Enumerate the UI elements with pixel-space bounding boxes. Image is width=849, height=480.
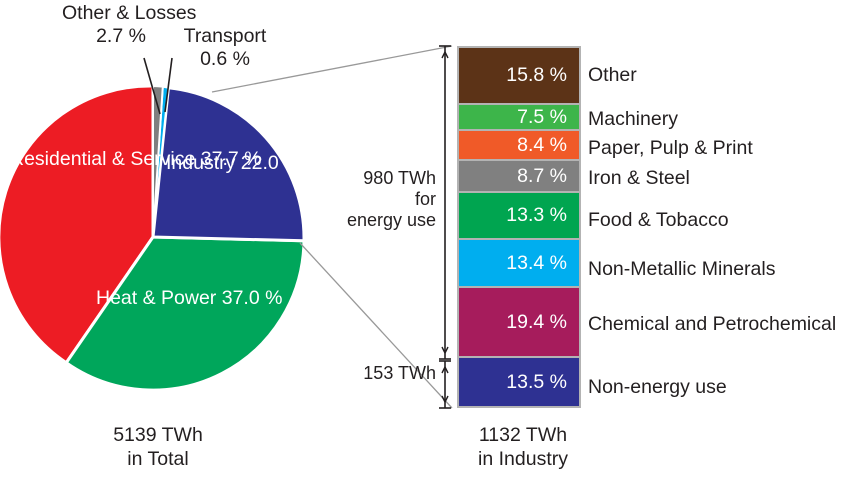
callout-other-losses-line1: Other — [62, 2, 111, 24]
legend-item-non-metallic-minerals: Non-Metallic Minerals — [588, 258, 775, 280]
bar-segment-machinery[interactable]: 7.5 % — [459, 105, 579, 132]
callout-other-losses-line2: & Losses — [116, 2, 196, 24]
caption-total-unit: in Total — [68, 447, 248, 471]
caption-total-value: 5139 TWh — [68, 423, 248, 447]
bar-segment-non-metallic-minerals-pct: 13.4 % — [506, 253, 579, 273]
bar-segment-other[interactable]: 15.8 % — [459, 48, 579, 105]
energy-flow-figure: Other & Losses 2.7 % Transport 0.6 % Res… — [0, 0, 849, 480]
bar-segment-machinery-pct: 7.5 % — [517, 107, 579, 127]
bar-segment-iron-steel-pct: 8.7 % — [517, 166, 579, 186]
bar-segment-other-pct: 15.8 % — [506, 65, 579, 85]
bar-segment-chemical-petrochemical-pct: 19.4 % — [506, 312, 579, 332]
legend-item-chemical-petrochemical: Chemical and Petrochemical — [588, 313, 836, 335]
bar-segment-iron-steel[interactable]: 8.7 % — [459, 161, 579, 192]
caption-industry-value: 1132 TWh — [428, 423, 618, 447]
legend-item-non-energy-use: Non-energy use — [588, 376, 727, 398]
bar-segment-paper-pulp-print-pct: 8.4 % — [517, 135, 579, 155]
caption-industry: 1132 TWh in Industry — [428, 423, 618, 471]
bar-legend: Other Machinery Paper, Pulp & Print Iron… — [588, 46, 849, 408]
bar-segment-paper-pulp-print[interactable]: 8.4 % — [459, 131, 579, 161]
bracket-energy-line3: energy use — [340, 210, 436, 231]
caption-total: 5139 TWh in Total — [68, 423, 248, 471]
legend-item-food-tobacco: Food & Tobacco — [588, 209, 729, 231]
bar-segment-chemical-petrochemical[interactable]: 19.4 % — [459, 288, 579, 357]
bar-segment-non-energy-use-pct: 13.5 % — [506, 372, 579, 392]
bracket-label-non-energy-use: 153 TWh — [336, 363, 436, 384]
callout-other-losses: Other & Losses 2.7 % — [62, 2, 180, 48]
bracket-label-energy-use: 980 TWh for energy use — [340, 168, 436, 231]
legend-item-paper-pulp-print: Paper, Pulp & Print — [588, 137, 753, 159]
legend-item-other: Other — [588, 64, 637, 86]
bracket-energy-line1: 980 TWh — [340, 168, 436, 189]
callout-transport-line1: Transport — [184, 25, 267, 47]
caption-industry-unit: in Industry — [428, 447, 618, 471]
bar-segment-food-tobacco-pct: 13.3 % — [506, 205, 579, 225]
industry-stacked-bar: 15.8 % 7.5 % 8.4 % 8.7 % 13.3 % 13.4 % 1… — [457, 46, 581, 408]
legend-item-iron-steel: Iron & Steel — [588, 167, 690, 189]
bracket-nonenergy-line1: 153 TWh — [336, 363, 436, 384]
pie-slice-industry[interactable] — [153, 88, 304, 241]
callout-transport-pct: 0.6 % — [168, 48, 282, 71]
legend-item-machinery: Machinery — [588, 108, 678, 130]
callout-other-losses-pct: 2.7 % — [62, 25, 180, 48]
bar-segment-non-metallic-minerals[interactable]: 13.4 % — [459, 240, 579, 288]
bracket-energy-line2: for — [340, 189, 436, 210]
bar-segment-food-tobacco[interactable]: 13.3 % — [459, 193, 579, 241]
callout-transport: Transport 0.6 % — [168, 25, 282, 71]
bar-segment-non-energy-use[interactable]: 13.5 % — [459, 358, 579, 406]
